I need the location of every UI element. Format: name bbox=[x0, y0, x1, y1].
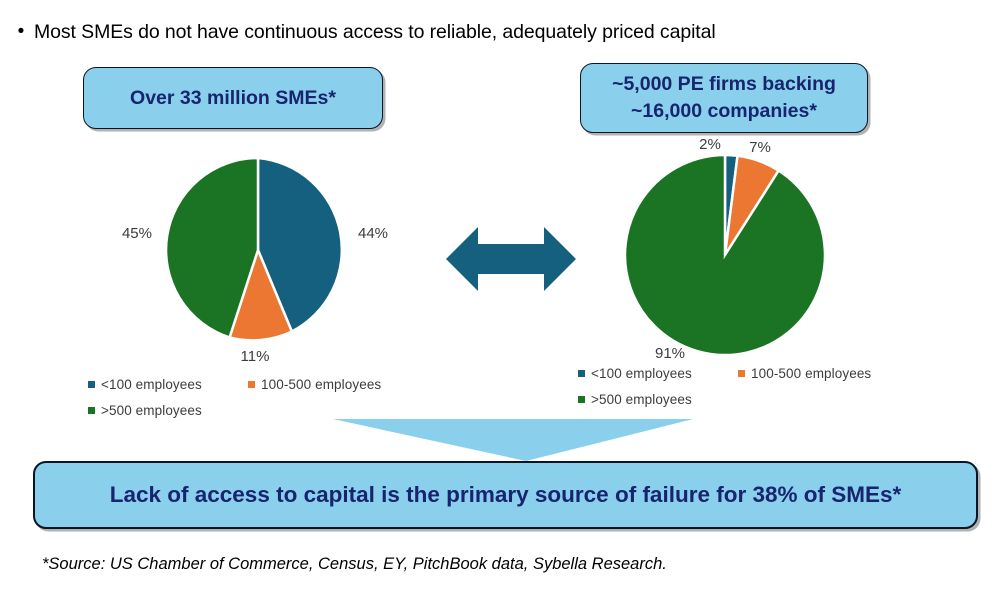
callout-left-label: Over 33 million SMEs* bbox=[130, 87, 336, 110]
legend-swatch-blue-icon bbox=[88, 381, 95, 388]
pie-left-label-green: 45% bbox=[122, 225, 152, 242]
legend-label-lt100: <100 employees bbox=[101, 377, 202, 392]
legend-left: <100 employees 100-500 employees >500 em… bbox=[88, 373, 418, 425]
callout-box-pe-firms: ~5,000 PE firms backing ~16,000 companie… bbox=[580, 63, 868, 133]
callout-right-label-line1: ~5,000 PE firms backing bbox=[612, 71, 836, 98]
pie-right-label-orange: 7% bbox=[749, 139, 771, 156]
legend-item-100-500: 100-500 employees bbox=[248, 373, 418, 395]
legend-label-gt500: >500 employees bbox=[591, 392, 692, 407]
double-arrow-svg bbox=[446, 225, 576, 293]
headline-bullet-row: • Most SMEs do not have continuous acces… bbox=[8, 18, 968, 46]
legend-right: <100 employees 100-500 employees >500 em… bbox=[578, 362, 908, 414]
conclusion-banner-label: Lack of access to capital is the primary… bbox=[110, 482, 902, 508]
pie-left-label-blue: 44% bbox=[358, 225, 388, 242]
down-triangle-arrow-icon bbox=[333, 419, 693, 461]
source-footnote: *Source: US Chamber of Commerce, Census,… bbox=[42, 555, 667, 574]
legend-item-gt500: >500 employees bbox=[578, 388, 908, 410]
legend-item-gt500: >500 employees bbox=[88, 399, 418, 421]
down-triangle-svg bbox=[333, 419, 693, 461]
legend-swatch-orange-icon bbox=[738, 370, 745, 377]
pie-left-label-orange: 11% bbox=[241, 348, 270, 365]
pie-right-label-green: 91% bbox=[655, 345, 685, 362]
legend-label-100-500: 100-500 employees bbox=[751, 366, 871, 381]
conclusion-banner: Lack of access to capital is the primary… bbox=[33, 461, 978, 529]
page-title: Most SMEs do not have continuous access … bbox=[34, 18, 716, 46]
legend-label-100-500: 100-500 employees bbox=[261, 377, 381, 392]
legend-item-100-500: 100-500 employees bbox=[738, 362, 908, 384]
pie-slice-right-green bbox=[625, 155, 825, 355]
legend-item-lt100: <100 employees bbox=[88, 373, 248, 395]
legend-swatch-green-icon bbox=[88, 407, 95, 414]
legend-label-lt100: <100 employees bbox=[591, 366, 692, 381]
legend-label-gt500: >500 employees bbox=[101, 403, 202, 418]
callout-right-label-line2: ~16,000 companies* bbox=[612, 98, 836, 125]
double-headed-arrow-icon bbox=[446, 225, 576, 293]
legend-swatch-green-icon bbox=[578, 396, 585, 403]
bullet-marker: • bbox=[8, 18, 34, 46]
callout-box-sme-count: Over 33 million SMEs* bbox=[83, 67, 383, 129]
pie-right-label-blue: 2% bbox=[699, 136, 721, 153]
legend-swatch-blue-icon bbox=[578, 370, 585, 377]
legend-swatch-orange-icon bbox=[248, 381, 255, 388]
legend-item-lt100: <100 employees bbox=[578, 362, 738, 384]
